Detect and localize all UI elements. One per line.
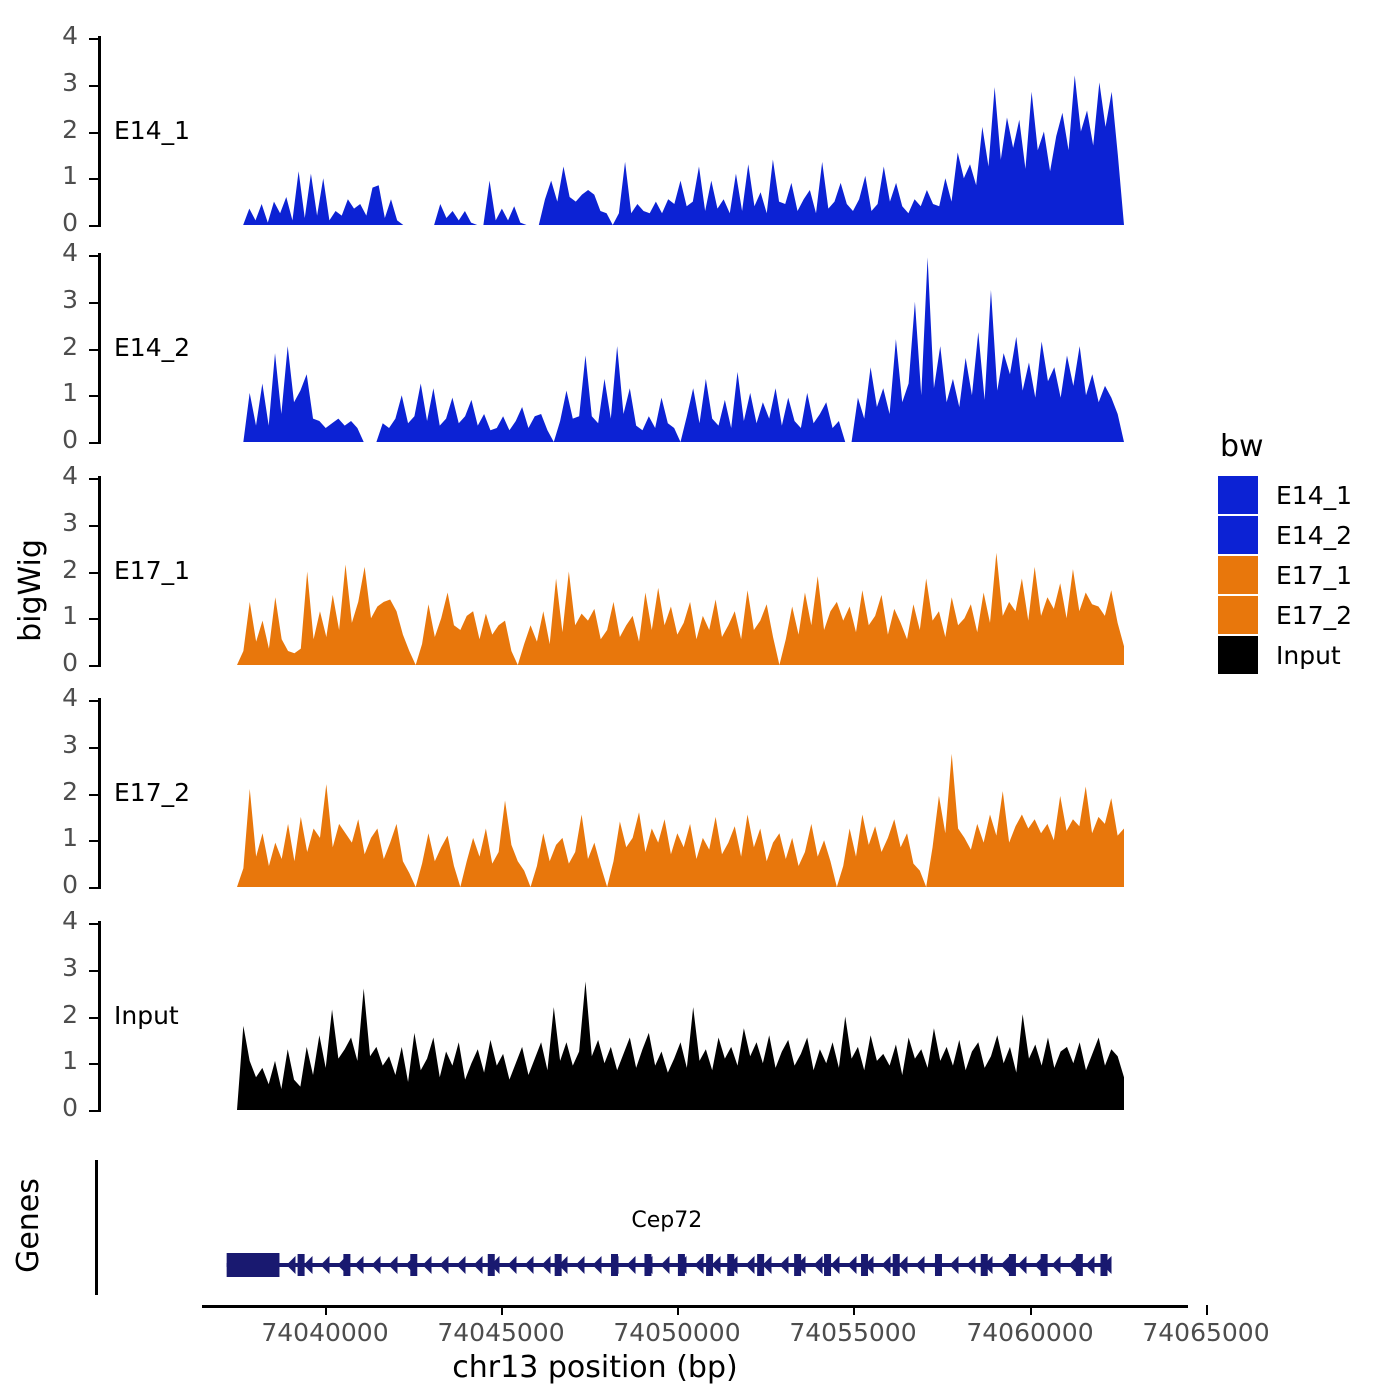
y-tick-label: 1 bbox=[32, 163, 78, 188]
y-tick-label: 3 bbox=[32, 732, 78, 757]
y-tick-label: 3 bbox=[32, 70, 78, 95]
track-label-e17_1: E17_1 bbox=[114, 556, 190, 585]
y-tick-label: 2 bbox=[32, 557, 78, 582]
legend-item-input[interactable]: Input bbox=[1218, 636, 1388, 674]
x-tick bbox=[501, 1305, 503, 1315]
legend-title: bw bbox=[1220, 432, 1388, 462]
gene-model bbox=[202, 1240, 1188, 1290]
y-axis-line-e17_1 bbox=[98, 476, 101, 667]
y-tick bbox=[89, 970, 98, 972]
track-label-e14_2: E14_2 bbox=[114, 333, 190, 362]
y-tick-label: 0 bbox=[32, 1095, 78, 1120]
y-tick bbox=[89, 700, 98, 702]
legend-items: E14_1E14_2E17_1E17_2Input bbox=[1218, 476, 1388, 674]
legend-label: E17_1 bbox=[1276, 561, 1352, 590]
y-tick-label: 4 bbox=[32, 240, 78, 265]
y-tick-label: 4 bbox=[32, 685, 78, 710]
legend-item-e14_2[interactable]: E14_2 bbox=[1218, 516, 1388, 554]
track-label-e17_2: E17_2 bbox=[114, 778, 190, 807]
x-tick bbox=[1206, 1305, 1208, 1315]
coverage-area-e17_2 bbox=[237, 700, 1124, 889]
x-tick bbox=[677, 1305, 679, 1315]
x-tick-label: 74045000 bbox=[401, 1318, 601, 1347]
y-tick-label: 2 bbox=[32, 117, 78, 142]
y-tick bbox=[89, 38, 98, 40]
y-tick-label: 0 bbox=[32, 427, 78, 452]
y-tick bbox=[89, 1017, 98, 1019]
genome-browser-figure: bigWig Genes 01234E14_101234E14_201234E1… bbox=[0, 0, 1400, 1400]
legend-swatch-input bbox=[1218, 636, 1258, 674]
legend-label: Input bbox=[1276, 641, 1341, 670]
legend-swatch-e14_1 bbox=[1218, 476, 1258, 514]
y-tick bbox=[89, 1110, 98, 1112]
y-tick-label: 2 bbox=[32, 779, 78, 804]
y-tick bbox=[89, 923, 98, 925]
legend-label: E14_2 bbox=[1276, 521, 1352, 550]
y-tick-label: 4 bbox=[32, 23, 78, 48]
y-tick bbox=[89, 525, 98, 527]
y-tick bbox=[89, 302, 98, 304]
x-tick bbox=[1030, 1305, 1032, 1315]
coverage-area-input bbox=[237, 923, 1124, 1112]
y-tick bbox=[89, 178, 98, 180]
y-tick-label: 0 bbox=[32, 210, 78, 235]
x-tick bbox=[853, 1305, 855, 1315]
x-tick-label: 74065000 bbox=[1106, 1318, 1306, 1347]
y-tick bbox=[89, 225, 98, 227]
legend-swatch-e14_2 bbox=[1218, 516, 1258, 554]
x-axis-title: chr13 position (bp) bbox=[0, 1350, 1190, 1385]
legend: bw E14_1E14_2E17_1E17_2Input bbox=[1218, 432, 1388, 676]
y-tick bbox=[89, 85, 98, 87]
gene-label: Cep72 bbox=[631, 1208, 702, 1233]
y-tick-label: 1 bbox=[32, 603, 78, 628]
y-tick-label: 3 bbox=[32, 287, 78, 312]
y-tick-label: 4 bbox=[32, 908, 78, 933]
x-tick-label: 74050000 bbox=[577, 1318, 777, 1347]
legend-swatch-e17_2 bbox=[1218, 596, 1258, 634]
y-tick bbox=[89, 255, 98, 257]
y-tick-label: 0 bbox=[32, 650, 78, 675]
y-tick-label: 1 bbox=[32, 380, 78, 405]
track-label-e14_1: E14_1 bbox=[114, 116, 190, 145]
track-label-input: Input bbox=[114, 1001, 179, 1030]
y-tick-label: 1 bbox=[32, 1048, 78, 1073]
x-tick-label: 74040000 bbox=[225, 1318, 425, 1347]
y-tick bbox=[89, 665, 98, 667]
legend-item-e17_1[interactable]: E17_1 bbox=[1218, 556, 1388, 594]
y-tick-label: 0 bbox=[32, 872, 78, 897]
legend-swatch-e17_1 bbox=[1218, 556, 1258, 594]
y-tick bbox=[89, 887, 98, 889]
y-tick bbox=[89, 442, 98, 444]
legend-label: E17_2 bbox=[1276, 601, 1352, 630]
y-tick bbox=[89, 349, 98, 351]
y-tick bbox=[89, 1063, 98, 1065]
y-tick bbox=[89, 840, 98, 842]
y-tick-label: 2 bbox=[32, 1002, 78, 1027]
y-axis-line-e14_2 bbox=[98, 253, 101, 444]
legend-item-e14_1[interactable]: E14_1 bbox=[1218, 476, 1388, 514]
x-tick-label: 74055000 bbox=[753, 1318, 953, 1347]
y-axis-line-input bbox=[98, 921, 101, 1112]
coverage-area-e17_1 bbox=[237, 478, 1124, 667]
coverage-area-e14_1 bbox=[237, 38, 1124, 227]
x-tick bbox=[325, 1305, 327, 1315]
y-tick bbox=[89, 618, 98, 620]
legend-label: E14_1 bbox=[1276, 481, 1352, 510]
legend-item-e17_2[interactable]: E17_2 bbox=[1218, 596, 1388, 634]
y-tick bbox=[89, 132, 98, 134]
y-axis-label-genes: Genes bbox=[6, 1155, 50, 1295]
y-axis-line-e17_2 bbox=[98, 698, 101, 889]
y-axis-line-e14_1 bbox=[98, 36, 101, 227]
y-tick-label: 4 bbox=[32, 463, 78, 488]
genes-axis-line bbox=[95, 1160, 98, 1295]
y-tick bbox=[89, 478, 98, 480]
y-tick bbox=[89, 794, 98, 796]
x-tick-label: 74060000 bbox=[930, 1318, 1130, 1347]
coverage-area-e14_2 bbox=[237, 255, 1124, 444]
y-tick-label: 3 bbox=[32, 510, 78, 535]
y-tick-label: 2 bbox=[32, 334, 78, 359]
y-tick bbox=[89, 395, 98, 397]
y-tick-label: 1 bbox=[32, 825, 78, 850]
y-tick bbox=[89, 747, 98, 749]
y-tick-label: 3 bbox=[32, 955, 78, 980]
x-axis-line bbox=[202, 1305, 1188, 1308]
y-tick bbox=[89, 572, 98, 574]
